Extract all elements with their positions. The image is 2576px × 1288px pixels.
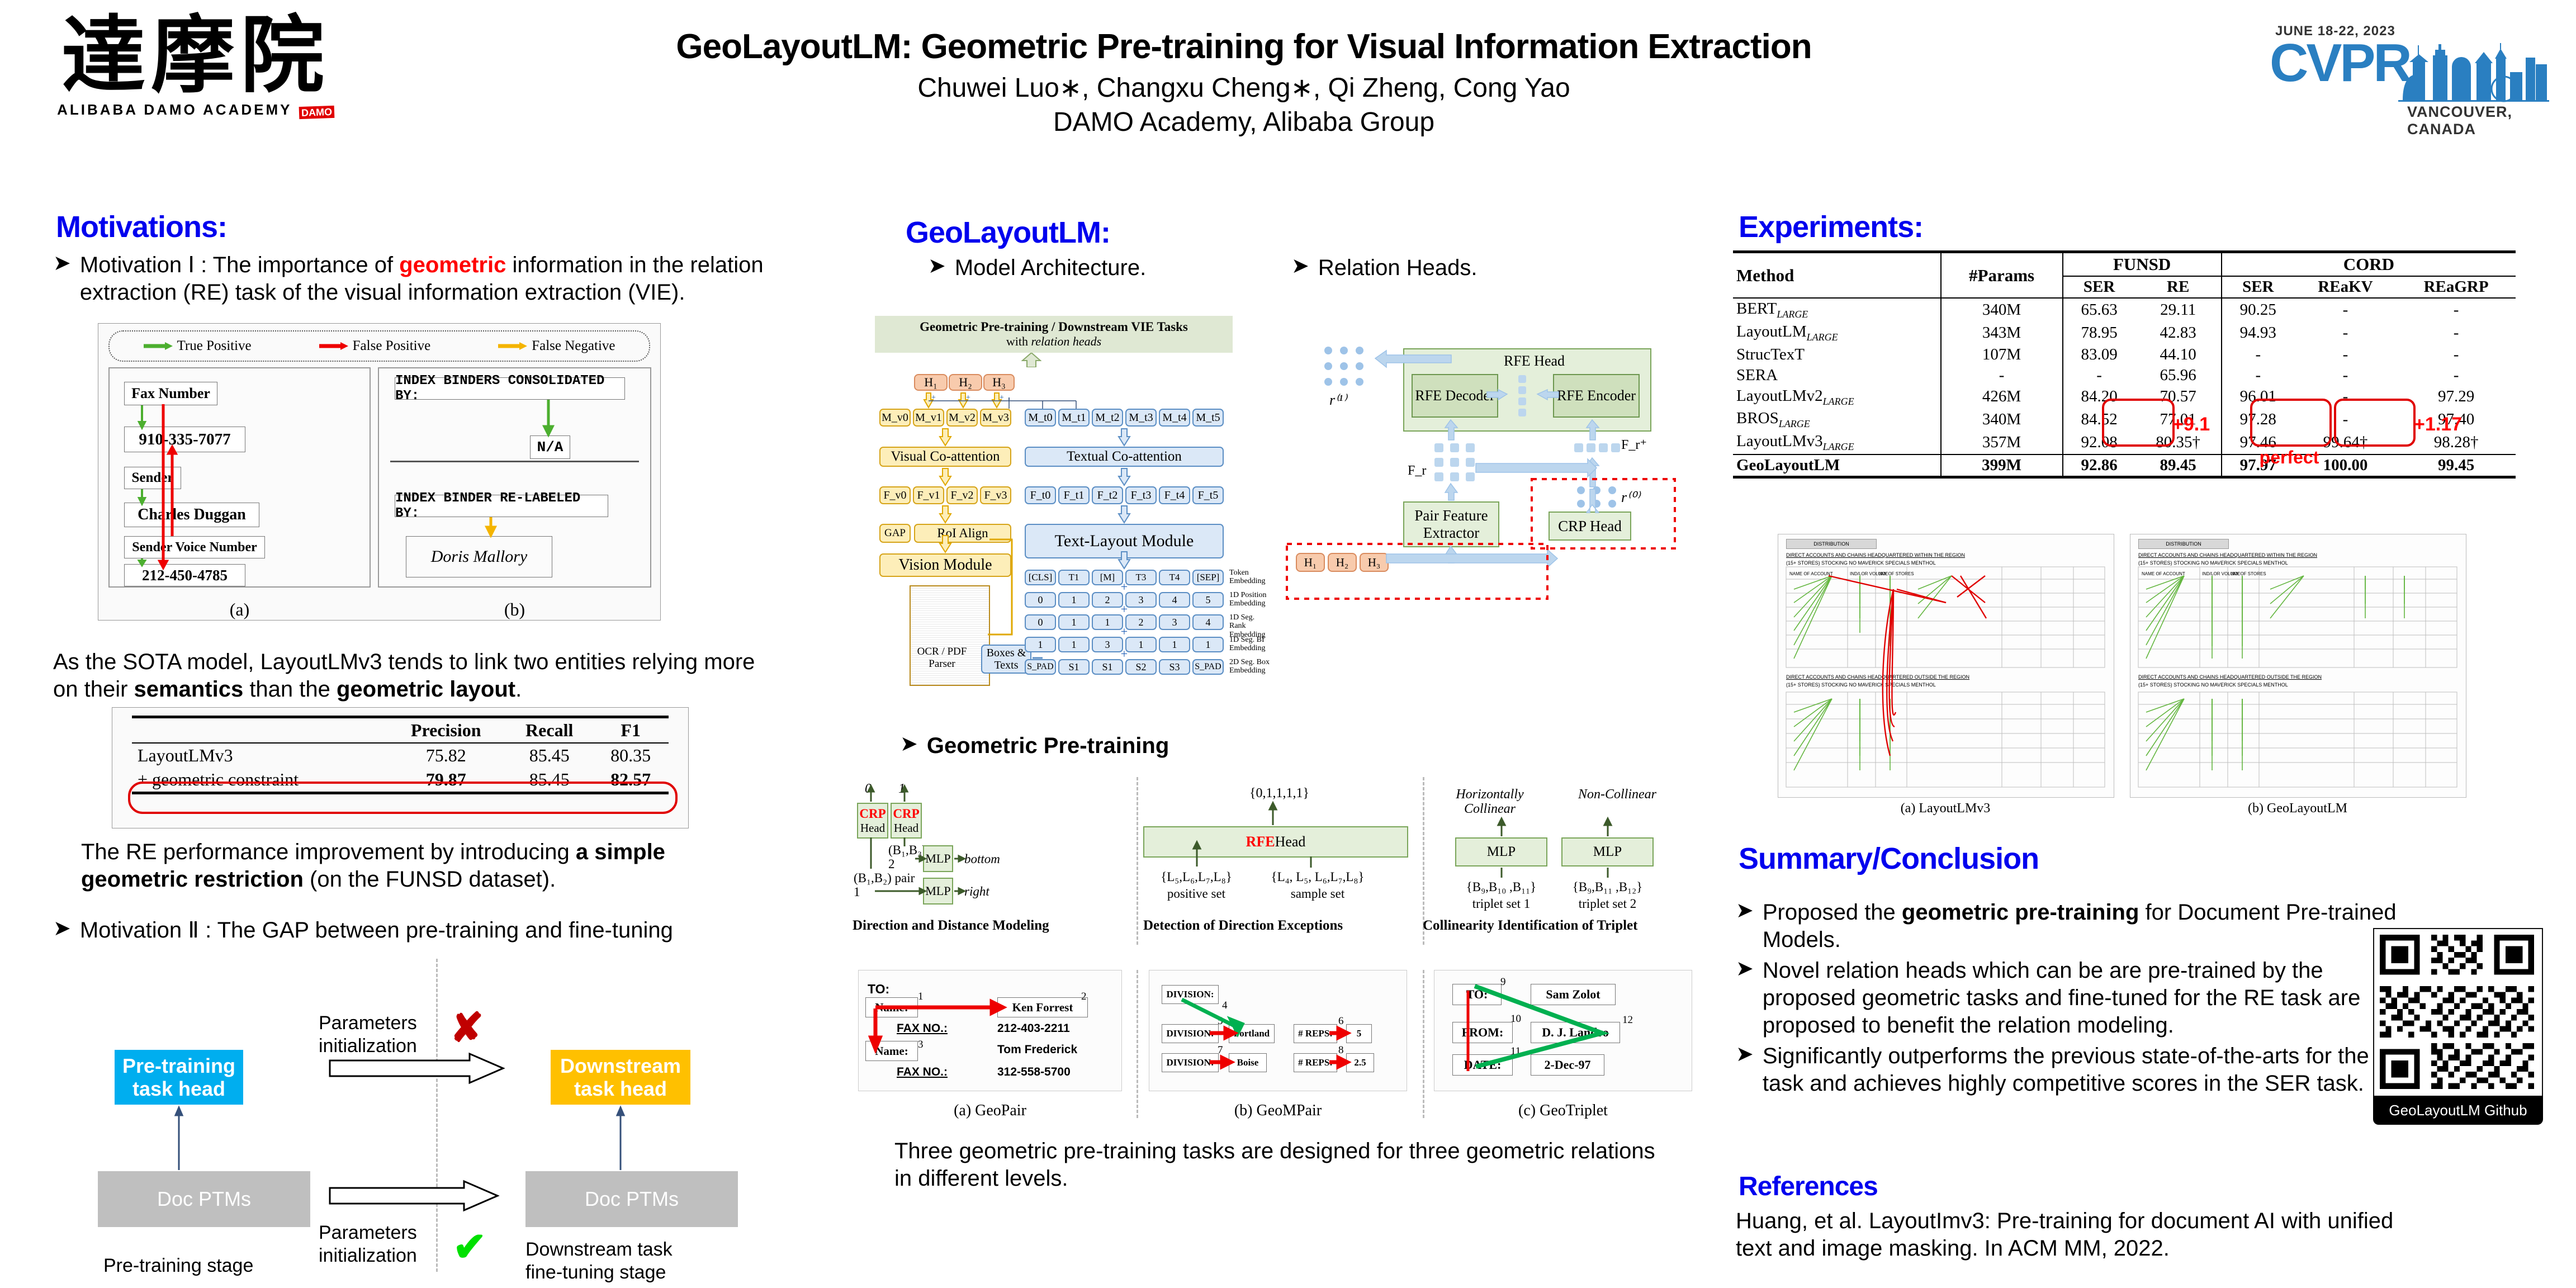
table-row: LayoutLMLARGE 343M 78.95 42.83 94.93 - -: [1733, 321, 2516, 344]
geopre-panel-direction-distance: 0 1 CRP Head CRP Head (B₁,B₃) pair 2 (B₁…: [853, 777, 1132, 945]
exp-row-2-params: 107M: [1941, 344, 2063, 365]
page-title: GeoLayoutLM: Geometric Pre-training for …: [503, 27, 1985, 67]
panel2-title: Detection of Direction Exceptions: [1143, 918, 1417, 934]
exp-row-6-method: LayoutLMv3: [1736, 432, 1823, 450]
qualitative-comparison: DISTRIBUTION DIRECT ACCOUNTS AND CHAINS …: [1778, 534, 2471, 819]
table-row: BERTLARGE 340M 65.63 29.11 90.25 - -: [1733, 298, 2516, 321]
downstream-stage-label: Downstream task fine-tuning stage: [525, 1238, 710, 1284]
example-geompair: DIVISION: DIVISION: Portland # REPS: 5 D…: [1149, 970, 1407, 1091]
table-row: GeoLayoutLM 399M 92.86 89.45 97.97 100.0…: [1733, 454, 2516, 477]
prf-row-0-precision: 75.82: [386, 743, 506, 768]
figure-a-relation-arrows: [110, 368, 370, 586]
figure-a: Fax Number 910-335-7077 Sender Charles D…: [108, 367, 371, 588]
exp-row-3-funsd-re: 65.96: [2135, 365, 2222, 386]
svg-text:+: +: [1121, 647, 1128, 661]
exp-row-0-cord-reakv: -: [2294, 298, 2397, 321]
exp-row-7-funsd-re: 89.45: [2135, 454, 2222, 477]
svg-text:+: +: [1121, 580, 1128, 594]
figure-b: INDEX BINDERS CONSOLIDATED BY: N/A INDEX…: [378, 367, 651, 588]
gap-diagram: Pre-training task head Downstream task h…: [78, 959, 783, 1272]
exp-col-funsd-ser: SER: [2063, 276, 2135, 298]
qual-left-col-2: NO. OF STORES: [1879, 571, 1914, 576]
architecture-connectors: +++ ++++: [875, 316, 1266, 685]
motivation-1-keyword: geometric: [399, 253, 506, 277]
exp-row-2-method: StrucTexT: [1736, 345, 1805, 363]
experiments-heading: Experiments:: [1739, 210, 1923, 244]
prf-col-3: F1: [593, 717, 669, 744]
damo-logo-cjk: 達摩院: [39, 14, 352, 98]
prf-col-2: Recall: [506, 717, 593, 744]
summary-bullet-2: ➤ Significantly outperforms the previous…: [1736, 1043, 2418, 1097]
exp-row-1-params: 343M: [1941, 321, 2063, 344]
qual-right-col-0: NAME OF ACCOUNT: [2142, 571, 2185, 576]
qualitative-left-caption: (a) LayoutLMv3: [1778, 801, 2113, 816]
figure-b-caption: (b): [379, 599, 650, 620]
summary-bullet-0-bold: geometric pre-training: [1902, 900, 2139, 925]
exp-group-cord: CORD: [2222, 252, 2516, 277]
cvpr-wordmark: CVPR: [2270, 40, 2410, 86]
legend-label-true-positive: True Positive: [177, 338, 252, 354]
exp-row-1-cord-ser: 94.93: [2222, 321, 2294, 344]
qr-code-label: GeoLayoutLM Github: [2373, 1096, 2543, 1125]
exp-row-4-params: 426M: [1941, 386, 2063, 409]
geopre-examples: TO: Name: Ken Forrest FAX NO.: 212-403-2…: [853, 970, 1702, 1118]
qualitative-right-caption: (b) GeoLayoutLM: [2130, 801, 2465, 816]
svg-text:+: +: [931, 394, 936, 402]
geopre-panel-collinearity: Horizontally Collinear Non-Collinear MLP…: [1428, 777, 1702, 945]
arrow-green-icon: [144, 342, 173, 351]
examples-divider-2: [1423, 970, 1424, 1118]
exp-row-2-funsd-ser: 83.09: [2063, 344, 2135, 365]
bullet-arrow-icon: ➤: [928, 254, 946, 279]
exp-col-cord-reakv: REaKV: [2294, 276, 2397, 298]
motivation-2-text: Motivation Ⅱ : The GAP between pre-train…: [80, 917, 673, 944]
prf-note-end: (on the FUNSD dataset).: [304, 867, 556, 892]
figure-a-caption: (a): [110, 599, 370, 620]
geopre-divider-1: [1137, 777, 1138, 945]
exp-row-1-sub: LARGE: [1807, 332, 1838, 343]
subhead-relation-heads: ➤ Relation Heads.: [1291, 254, 1477, 282]
prf-highlight-box: [128, 782, 678, 814]
subhead-model-architecture-label: Model Architecture.: [955, 254, 1146, 282]
exp-row-6-sub: LARGE: [1823, 441, 1854, 452]
damo-logo-subtitle: ALIBABA DAMO ACADEMY: [57, 101, 292, 118]
bullet-arrow-icon: ➤: [900, 732, 918, 757]
perfect-annotation: perfect: [2253, 447, 2326, 468]
poster-root: 達摩院 ALIBABA DAMO ACADEMY DAMO GeoLayoutL…: [0, 0, 2576, 1288]
exp-col-params: #Params: [1941, 252, 2063, 299]
geometric-pretraining-label: Geometric Pre-training: [927, 732, 1169, 760]
prf-note-pre: The RE performance improvement by introd…: [81, 840, 576, 864]
bullet-arrow-icon: ➤: [1736, 1043, 1754, 1067]
exp-row-1-funsd-re: 42.83: [2135, 321, 2222, 344]
svg-text:+: +: [966, 394, 970, 402]
figure-legend: True Positive False Positive False Negat…: [108, 330, 650, 362]
svg-text:+: +: [1121, 602, 1128, 616]
summary-heading: Summary/Conclusion: [1739, 841, 2039, 876]
prf-col-0: [132, 717, 386, 744]
exp-group-funsd: FUNSD: [2063, 252, 2222, 277]
exp-col-cord-ser: SER: [2222, 276, 2294, 298]
geopre-panels: 0 1 CRP Head CRP Head (B₁,B₃) pair 2 (B₁…: [853, 777, 1702, 945]
exp-row-3-params: -: [1941, 365, 2063, 386]
geolayoutlm-heading: GeoLayoutLM:: [906, 215, 1110, 250]
exp-row-4-sub: LARGE: [1823, 395, 1854, 406]
exp-row-0-funsd-re: 29.11: [2135, 298, 2222, 321]
figure-note-end: .: [515, 677, 522, 702]
geometric-pretraining-subhead: ➤ Geometric Pre-training: [900, 732, 1169, 760]
legend-item-false-negative: False Negative: [498, 338, 615, 354]
exp-row-0-cord-ser: 90.25: [2222, 298, 2294, 321]
relation-heads-diagram: RFE Head RFE Decoder RFE Encoder Pair Fe…: [1286, 321, 1677, 601]
subhead-relation-heads-label: Relation Heads.: [1318, 254, 1478, 282]
exp-col-funsd-re: RE: [2135, 276, 2222, 298]
figure-note-bold-1: semantics: [134, 677, 244, 702]
exp-row-3-method: SERA: [1736, 366, 1778, 384]
damo-logo: 達摩院 ALIBABA DAMO ACADEMY DAMO: [39, 14, 352, 119]
bullet-arrow-icon: ➤: [1291, 254, 1309, 279]
exp-row-4-method: LayoutLMv2: [1736, 387, 1823, 405]
prf-note: The RE performance improvement by introd…: [81, 839, 769, 893]
affiliation: DAMO Academy, Alibaba Group: [503, 107, 1985, 138]
highlight-funsd-re: [2102, 399, 2175, 447]
exp-row-0-funsd-ser: 65.63: [2063, 298, 2135, 321]
bullet-arrow-icon: ➤: [1736, 957, 1754, 982]
exp-row-7-params: 399M: [1941, 454, 2063, 477]
exp-row-5-params: 340M: [1941, 408, 2063, 431]
summary-bullet-2-text: Significantly outperforms the previous s…: [1763, 1043, 2418, 1097]
exp-row-0-cord-reagrp: -: [2397, 298, 2516, 321]
figure-note: As the SOTA model, LayoutLMv3 tends to l…: [53, 648, 780, 703]
exp-row-2-funsd-re: 44.10: [2135, 344, 2222, 365]
cvpr-logo: JUNE 18-22, 2023 CVPR VANCOUVER, CANADA: [2214, 17, 2549, 157]
examples-divider-1: [1137, 970, 1138, 1118]
qual-left-col-0: NAME OF ACCOUNT: [1789, 571, 1833, 576]
legend-item-true-positive: True Positive: [144, 338, 252, 354]
exp-row-1-cord-reagrp: -: [2397, 321, 2516, 344]
gain-funsd-re: +9.1: [2172, 414, 2210, 435]
exp-row-2-cord-ser: -: [2222, 344, 2294, 365]
geopre-panel-direction-exceptions: {0,1,1,1,1} RFE Head {L₅,L₆,L₇,L₈} posit…: [1143, 777, 1417, 945]
bullet-arrow-icon: ➤: [53, 252, 71, 276]
arrow-red-icon: [319, 342, 348, 351]
prf-table-panel: Precision Recall F1 LayoutLMv3 75.82 85.…: [112, 707, 689, 828]
legend-item-false-positive: False Positive: [319, 338, 431, 354]
highlight-cord-reagrp: [2334, 399, 2416, 447]
qr-code-image: [2374, 929, 2540, 1095]
geopair-caption: (a) GeoPair: [859, 1102, 1121, 1120]
qual-right-col-2: NO. OF STORES: [2231, 571, 2266, 576]
pretraining-stage-label: Pre-training stage: [103, 1255, 253, 1277]
architecture-diagram: Geometric Pre-training / Downstream VIE …: [875, 316, 1266, 679]
prf-row-0-recall: 85.45: [506, 743, 593, 768]
exp-row-6-params: 357M: [1941, 431, 2063, 454]
motivation-1: ➤ Motivation Ⅰ : The importance of geome…: [53, 252, 830, 306]
bullet-arrow-icon: ➤: [1736, 899, 1754, 924]
exp-row-0-params: 340M: [1941, 298, 2063, 321]
exp-row-3-funsd-ser: -: [2063, 365, 2135, 386]
experiments-table-wrap: Method #Params FUNSD CORD SER RE SER REa…: [1733, 250, 2527, 479]
authors: Chuwei Luo∗, Changxu Cheng∗, Qi Zheng, C…: [503, 72, 1985, 103]
references-heading: References: [1739, 1171, 1878, 1202]
exp-row-5-method: BROS: [1736, 409, 1779, 427]
svg-text:+: +: [1121, 624, 1128, 638]
gap-diagram-arrows: [78, 959, 783, 1272]
panel3-title: Collinearity Identification of Triplet: [1423, 918, 1702, 934]
panel1-title: Direction and Distance Modeling: [853, 918, 1132, 934]
exp-row-3-cord-reagrp: -: [2397, 365, 2516, 386]
exp-col-cord-reagrp: REaGRP: [2397, 276, 2516, 298]
reference-item-0: Huang, et al. LayoutImv3: Pre-training f…: [1736, 1207, 2423, 1262]
table-row: SERA - - 65.96 - - -: [1733, 365, 2516, 386]
motivation-figure-panel: True Positive False Positive False Negat…: [98, 323, 661, 621]
exp-row-3-cord-reakv: -: [2294, 365, 2397, 386]
legend-label-false-positive: False Positive: [353, 338, 431, 354]
example-geopair: TO: Name: Ken Forrest FAX NO.: 212-403-2…: [858, 970, 1122, 1091]
figure-note-mid: than the: [243, 677, 337, 702]
geotriplet-arrows: [1434, 970, 1692, 1091]
table-row: StrucTexT 107M 83.09 44.10 - - -: [1733, 344, 2516, 365]
damo-stamp: DAMO: [299, 106, 335, 119]
motivations-heading: Motivations:: [56, 210, 227, 244]
highlight-cord-reakv: [2250, 399, 2332, 447]
exp-row-2-cord-reagrp: -: [2397, 344, 2516, 365]
exp-row-1-funsd-ser: 78.95: [2063, 321, 2135, 344]
qualitative-left-image: DISTRIBUTION DIRECT ACCOUNTS AND CHAINS …: [1778, 534, 2114, 798]
geotriplet-caption: (c) GeoTriplet: [1434, 1102, 1692, 1120]
experiments-group-header-row: Method #Params FUNSD CORD: [1733, 252, 2516, 277]
skyline-icon: [2398, 42, 2549, 103]
subhead-model-architecture: ➤ Model Architecture.: [928, 254, 1146, 282]
prf-col-1: Precision: [386, 717, 506, 744]
svg-text:+: +: [1000, 394, 1004, 402]
summary-bullet-1: ➤ Novel relation heads which can be are …: [1736, 957, 2418, 1039]
exp-row-3-cord-ser: -: [2222, 365, 2294, 386]
geopair-arrows: [859, 970, 1121, 1091]
title-block: GeoLayoutLM: Geometric Pre-training for …: [503, 27, 1985, 138]
prf-row-0-method: LayoutLMv3: [132, 743, 386, 768]
exp-row-7-cord-reagrp: 99.45: [2397, 454, 2516, 477]
qualitative-right-image: DISTRIBUTION DIRECT ACCOUNTS AND CHAINS …: [2130, 534, 2466, 798]
geompair-caption: (b) GeoMPair: [1149, 1102, 1407, 1120]
table-row: LayoutLMv3 75.82 85.45 80.35: [132, 743, 669, 768]
summary-bullet-0: ➤ Proposed the geometric pre-training fo…: [1736, 899, 2418, 954]
exp-row-0-method: BERT: [1736, 300, 1777, 318]
arrow-orange-icon: [498, 342, 527, 351]
exp-row-2-cord-reakv: -: [2294, 344, 2397, 365]
exp-row-7-funsd-ser: 92.86: [2063, 454, 2135, 477]
prf-row-0-f1: 80.35: [593, 743, 669, 768]
figure-b-relation-arrows: [379, 368, 650, 586]
bullet-arrow-icon: ➤: [53, 917, 71, 941]
exp-col-method: Method: [1733, 252, 1941, 299]
exp-row-1-method: LayoutLM: [1736, 323, 1807, 340]
motivation-2: ➤ Motivation Ⅱ : The GAP between pre-tra…: [53, 917, 825, 944]
geopre-caption: Three geometric pre-training tasks are d…: [894, 1138, 1666, 1192]
summary-bullet-1-text: Novel relation heads which can be are pr…: [1763, 957, 2418, 1039]
summary-bullet-0-pre: Proposed the: [1763, 900, 1902, 925]
exp-row-1-cord-reakv: -: [2294, 321, 2397, 344]
exp-row-5-sub: LARGE: [1779, 418, 1810, 429]
qr-code[interactable]: [2373, 928, 2543, 1098]
figure-note-bold-2: geometric layout: [337, 677, 515, 702]
exp-row-0-sub: LARGE: [1777, 309, 1808, 320]
cvpr-city: VANCOUVER, CANADA: [2407, 103, 2549, 138]
motivation-1-pre: Motivation Ⅰ : The importance of: [80, 253, 399, 277]
geompair-arrows: [1149, 970, 1407, 1091]
legend-label-false-negative: False Negative: [532, 338, 615, 354]
relation-heads-connectors: [1286, 321, 1677, 601]
gain-cord-reagrp: +1.17: [2414, 414, 2462, 435]
exp-row-7-method: GeoLayoutLM: [1736, 456, 1840, 474]
example-geotriplet: TO: Sam Zolot FROM: D. J. Landro DATE: 2…: [1434, 970, 1692, 1091]
prf-table-header-row: Precision Recall F1: [132, 717, 669, 744]
